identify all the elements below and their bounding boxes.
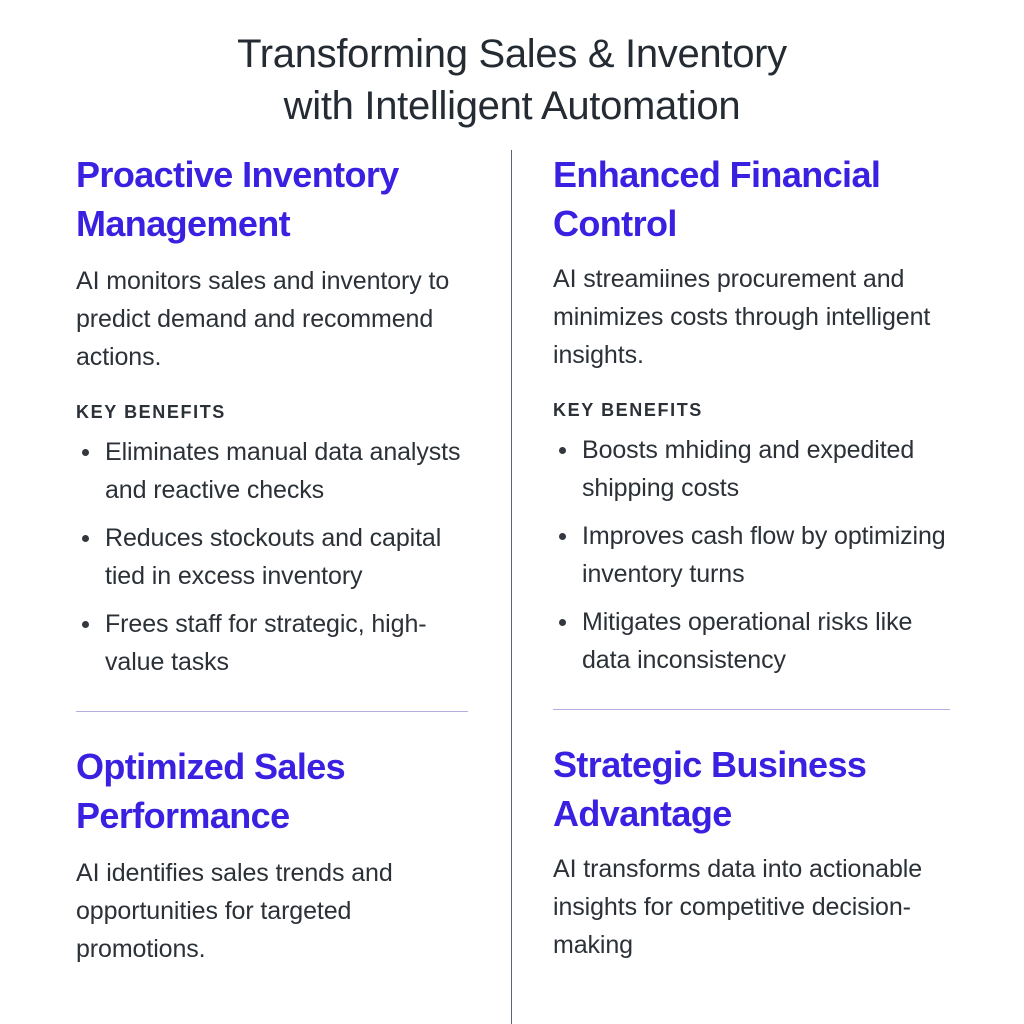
- section-divider-left: [76, 711, 468, 712]
- right-column: Enhanced Financial Control AI streamiine…: [511, 150, 1024, 964]
- section-heading-strategic-business-advantage: Strategic Business Advantage: [553, 740, 962, 838]
- list-item: Eliminates manual data analysts and reac…: [76, 433, 467, 509]
- section-heading-enhanced-financial-control: Enhanced Financial Control: [553, 150, 962, 248]
- list-item-label: Boosts mhiding and expedited shipping co…: [582, 436, 914, 502]
- list-item: Boosts mhiding and expedited shipping co…: [553, 431, 962, 507]
- list-item-label: Frees staff for strategic, high-value ta…: [105, 610, 426, 676]
- infographic-page: Transforming Sales & Inventory with Inte…: [0, 0, 1024, 1024]
- page-title: Transforming Sales & Inventory with Inte…: [82, 0, 942, 132]
- list-item: Frees staff for strategic, high-value ta…: [76, 605, 467, 681]
- key-benefits-label-right: KEY BENEFITS: [553, 400, 962, 421]
- section-strategic-business-advantage: Strategic Business Advantage AI transfor…: [553, 740, 962, 964]
- list-item: Mitigates operational risks like data in…: [553, 603, 962, 679]
- list-item-label: Reduces stockouts and capital tied in ex…: [105, 524, 441, 590]
- bullet-dot-icon: [82, 449, 89, 456]
- bullet-dot-icon: [82, 535, 89, 542]
- list-item-label: Improves cash flow by optimizing invento…: [582, 522, 946, 588]
- section-body-strategic-business-advantage: AI transforms data into actionable insig…: [553, 850, 962, 964]
- page-title-line-1: Transforming Sales & Inventory: [82, 28, 942, 80]
- key-benefits-label-left: KEY BENEFITS: [76, 402, 467, 423]
- list-item-label: Eliminates manual data analysts and reac…: [105, 438, 460, 504]
- key-benefits-list-right: Boosts mhiding and expedited shipping co…: [553, 431, 962, 679]
- vertical-divider: [511, 150, 512, 1024]
- key-benefits-list-left: Eliminates manual data analysts and reac…: [76, 433, 467, 681]
- section-heading-optimized-sales-performance: Optimized Sales Performance: [76, 742, 467, 840]
- section-body-proactive-inventory-management: AI monitors sales and inventory to predi…: [76, 262, 467, 376]
- section-heading-proactive-inventory-management: Proactive Inventory Management: [76, 150, 467, 248]
- list-item-label: Mitigates operational risks like data in…: [582, 608, 912, 674]
- section-enhanced-financial-control: Enhanced Financial Control AI streamiine…: [553, 150, 962, 679]
- list-item: Improves cash flow by optimizing invento…: [553, 517, 962, 593]
- section-body-enhanced-financial-control: AI streamiines procurement and minimizes…: [553, 260, 962, 374]
- content-columns: Proactive Inventory Management AI monito…: [0, 150, 1024, 1024]
- bullet-dot-icon: [82, 621, 89, 628]
- page-title-line-2: with Intelligent Automation: [82, 80, 942, 132]
- left-column: Proactive Inventory Management AI monito…: [0, 150, 511, 968]
- section-divider-right: [553, 709, 950, 710]
- section-body-optimized-sales-performance: AI identifies sales trends and opportuni…: [76, 854, 467, 968]
- section-proactive-inventory-management: Proactive Inventory Management AI monito…: [76, 150, 467, 681]
- list-item: Reduces stockouts and capital tied in ex…: [76, 519, 467, 595]
- bullet-dot-icon: [559, 619, 566, 626]
- bullet-dot-icon: [559, 533, 566, 540]
- bullet-dot-icon: [559, 447, 566, 454]
- section-optimized-sales-performance: Optimized Sales Performance AI identifie…: [76, 742, 467, 968]
